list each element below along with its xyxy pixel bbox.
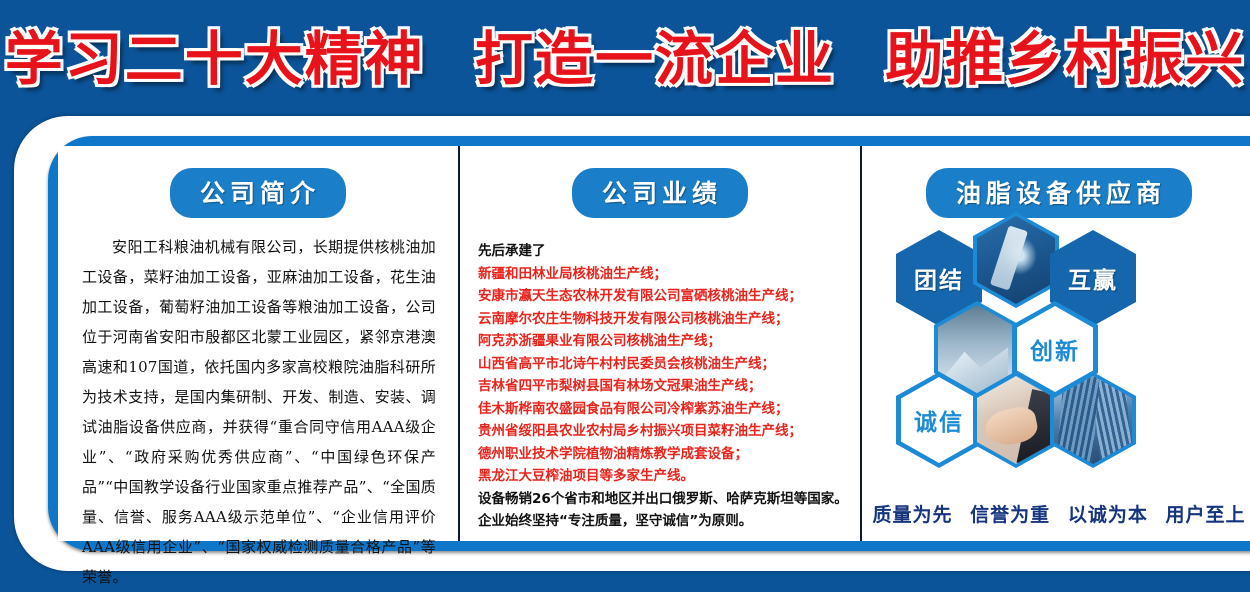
hexagon-aircraft-carrier <box>973 212 1059 308</box>
performance-project: 黑龙江大豆榨油项目等多家生产线。 <box>478 465 846 488</box>
banner-title-part-3: 助推乡村振兴 <box>885 25 1245 93</box>
banner-title: 学习二十大精神 打造一流企业 助推乡村振兴 <box>0 12 1250 96</box>
panel-supplier: 油脂设备供应商 团结 互赢 创新 <box>862 146 1250 541</box>
board-stage: 公司简介 安阳工科粮油机械有限公司，长期提供核桃油加工设备，菜籽油加工设备，亚麻… <box>0 108 1250 590</box>
slogan-part-2: 信誉为重 <box>970 504 1050 526</box>
performance-project: 安康市瀛天生态农林开发有限公司富硒核桃油生产线； <box>478 285 846 308</box>
performance-footer: 设备畅销26个省市和地区并出口俄罗斯、哈萨克斯坦等国家。 <box>478 488 846 511</box>
slogan-part-3: 以诚为本 <box>1068 504 1148 526</box>
company-profile-body: 安阳工科粮油机械有限公司，长期提供核桃油加工设备，菜籽油加工设备，亚麻油加工设备… <box>82 232 436 592</box>
performance-footer: 企业始终坚持“专注质量，坚守诚信”为原则。 <box>478 510 846 533</box>
performance-project: 新疆和田林业局核桃油生产线； <box>478 263 846 286</box>
heading-supplier: 油脂设备供应商 <box>926 168 1192 218</box>
performance-project: 佳木斯桦南农盛园食品有限公司冷榨紫苏油生产线； <box>478 398 846 421</box>
header-banner: 学习二十大精神 打造一流企业 助推乡村振兴 <box>0 0 1250 108</box>
slogan-part-1: 质量为先 <box>873 504 953 526</box>
aircraft-carrier-photo-icon <box>977 216 1055 304</box>
hexagon-label: 互赢 <box>1068 261 1118 295</box>
performance-project: 贵州省绥阳县农业农村局乡村振兴项目菜籽油生产线； <box>478 420 846 443</box>
performance-project: 德州职业技术学院植物油精炼教学成套设备； <box>478 443 846 466</box>
handshake-photo-icon <box>977 376 1055 464</box>
heading-company-profile: 公司简介 <box>170 168 346 218</box>
hexagon-label: 诚信 <box>914 403 964 437</box>
banner-title-part-2: 打造一流企业 <box>475 25 835 93</box>
performance-lead: 先后承建了 <box>478 240 846 263</box>
content-field: 公司简介 安阳工科粮油机械有限公司，长期提供核桃油加工设备，菜籽油加工设备，亚麻… <box>58 146 1250 541</box>
supplier-slogan: 质量为先 信誉为重 以诚为本 用户至上 <box>862 500 1250 527</box>
company-performance-body: 先后承建了 新疆和田林业局核桃油生产线； 安康市瀛天生态农林开发有限公司富硒核桃… <box>478 240 846 533</box>
performance-project: 山西省高平市北诗午村村民委员会核桃油生产线； <box>478 353 846 376</box>
hexagon-label: 团结 <box>914 261 964 295</box>
performance-project: 阿克苏浙疆果业有限公司核桃油生产线； <box>478 330 846 353</box>
skyscraper-photo-icon <box>1054 376 1132 464</box>
hexagon-label: 创新 <box>1030 332 1080 366</box>
slogan-part-4: 用户至上 <box>1165 504 1245 526</box>
panel-company-performance: 公司业绩 先后承建了 新疆和田林业局核桃油生产线； 安康市瀛天生态农林开发有限公… <box>458 146 862 541</box>
banner-title-part-1: 学习二十大精神 <box>5 25 425 93</box>
performance-project: 吉林省四平市梨树县国有林场文冠果油生产线； <box>478 375 846 398</box>
heading-company-performance: 公司业绩 <box>572 168 748 218</box>
hexagon-cluster: 团结 互赢 创新 诚信 <box>862 224 1250 494</box>
panel-company-profile: 公司简介 安阳工科粮油机械有限公司，长期提供核桃油加工设备，菜籽油加工设备，亚麻… <box>58 146 458 541</box>
performance-project: 云南摩尔农庄生物科技开发有限公司核桃油生产线； <box>478 308 846 331</box>
